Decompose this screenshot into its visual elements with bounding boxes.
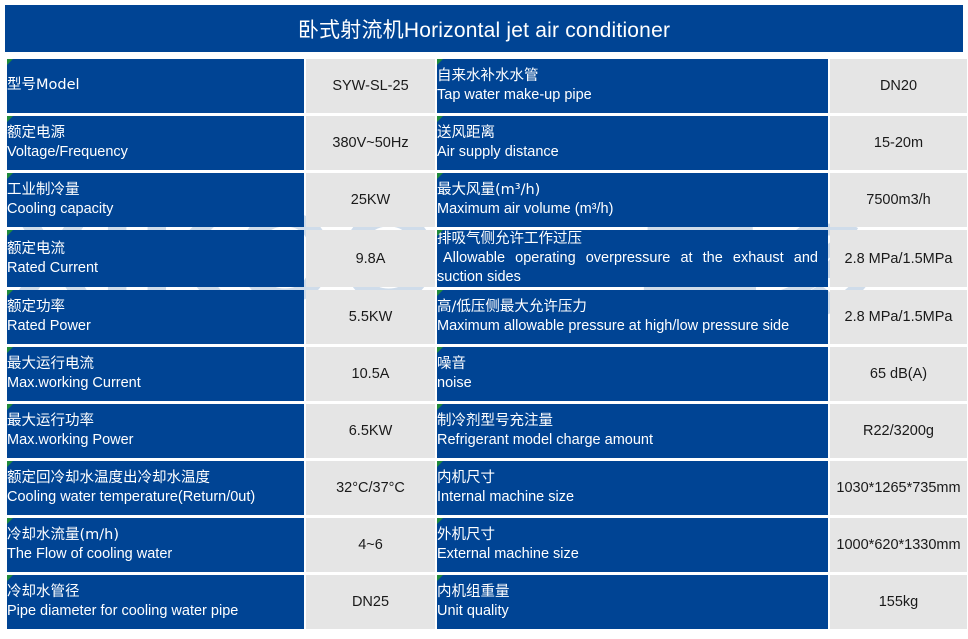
table-row: 额定回冷却水温度出冷却水温度 Cooling water temperature… [7, 461, 967, 515]
spec-label-cn: 最大运行功率 [7, 412, 304, 431]
spec-label-voltage-frequency: 额定电源 Voltage/Frequency [7, 116, 304, 170]
spec-table-body: 型号Model SYW-SL-25 自来水补水水管 Tap water make… [7, 59, 967, 629]
table-row: 型号Model SYW-SL-25 自来水补水水管 Tap water make… [7, 59, 967, 113]
spec-label-en: Voltage/Frequency [7, 143, 304, 162]
spec-label-en: Max.working Current [7, 374, 304, 393]
spec-value-noise: 65 dB(A) [830, 347, 967, 401]
spec-label-en: External machine size [437, 545, 828, 564]
spec-value-unit-quality: 155kg [830, 575, 967, 629]
spec-value-cooling-water-flow: 4~6 [306, 518, 435, 572]
spec-value-max-working-current: 10.5A [306, 347, 435, 401]
spec-label-max-working-power: 最大运行功率 Max.working Power [7, 404, 304, 458]
spec-label-cn: 额定电源 [7, 124, 304, 143]
spec-label-cn: 型号Model [7, 76, 304, 95]
spec-label-en: Air supply distance [437, 143, 828, 162]
spec-value-external-machine-size: 1000*620*1330mm [830, 518, 967, 572]
spec-value-refrigerant-charge: R22/3200g [830, 404, 967, 458]
spec-value-max-working-power: 6.5KW [306, 404, 435, 458]
spec-value-internal-machine-size: 1030*1265*735mm [830, 461, 967, 515]
spec-label-cooling-water-pipe-diameter: 冷却水管径 Pipe diameter for cooling water pi… [7, 575, 304, 629]
table-row: 最大运行电流 Max.working Current 10.5A 噪音 nois… [7, 347, 967, 401]
spec-label-internal-machine-size: 内机尺寸 Internal machine size [437, 461, 828, 515]
specification-table: 型号Model SYW-SL-25 自来水补水水管 Tap water make… [5, 56, 968, 632]
spec-label-en: Pipe diameter for cooling water pipe [7, 602, 304, 621]
spec-label-cooling-water-flow: 冷却水流量(m/h) The Flow of cooling water [7, 518, 304, 572]
spec-label-cn: 噪音 [437, 355, 828, 374]
spec-value-cooling-water-temperature: 32°C/37°C [306, 461, 435, 515]
spec-label-en: Maximum allowable pressure at high/low p… [437, 317, 828, 336]
spec-value-cooling-capacity: 25KW [306, 173, 435, 227]
spec-label-unit-quality: 内机组重量 Unit quality [437, 575, 828, 629]
spec-label-en: Max.working Power [7, 431, 304, 450]
spec-label-cooling-capacity: 工业制冷量 Cooling capacity [7, 173, 304, 227]
spec-label-cn: 制冷剂型号充注量 [437, 412, 828, 431]
spec-label-cn: 内机尺寸 [437, 469, 828, 488]
table-row: 额定功率 Rated Power 5.5KW 高/低压侧最大允许压力 Maxim… [7, 290, 967, 344]
spec-label-cn: 冷却水管径 [7, 583, 304, 602]
spec-label-cn: 内机组重量 [437, 583, 828, 602]
spec-label-model: 型号Model [7, 59, 304, 113]
page-title-text: 卧式射流机Horizontal jet air conditioner [298, 14, 670, 44]
spec-label-en: Rated Power [7, 317, 304, 336]
spec-value-max-air-volume: 7500m3/h [830, 173, 967, 227]
spec-value-rated-current: 9.8A [306, 230, 435, 287]
spec-label-noise: 噪音 noise [437, 347, 828, 401]
spec-label-rated-current: 额定电流 Rated Current [7, 230, 304, 287]
spec-label-en: Unit quality [437, 602, 828, 621]
spec-label-refrigerant-charge: 制冷剂型号充注量 Refrigerant model charge amount [437, 404, 828, 458]
spec-value-tap-water-pipe: DN20 [830, 59, 967, 113]
spec-label-en: Allowable operating overpressure at the … [437, 249, 828, 287]
spec-label-cooling-water-temperature: 额定回冷却水温度出冷却水温度 Cooling water temperature… [7, 461, 304, 515]
spec-label-en: Tap water make-up pipe [437, 86, 828, 105]
spec-label-en: Internal machine size [437, 488, 828, 507]
table-row: 冷却水管径 Pipe diameter for cooling water pi… [7, 575, 967, 629]
spec-label-allowable-overpressure: 排吸气侧允许工作过压 Allowable operating overpress… [437, 230, 828, 287]
spec-label-en: Cooling capacity [7, 200, 304, 219]
table-row: 额定电源 Voltage/Frequency 380V~50Hz 送风距离 Ai… [7, 116, 967, 170]
spec-label-cn: 高/低压侧最大允许压力 [437, 298, 828, 317]
table-row: 额定电流 Rated Current 9.8A 排吸气侧允许工作过压 Allow… [7, 230, 967, 287]
spec-label-air-supply-distance: 送风距离 Air supply distance [437, 116, 828, 170]
spec-label-cn: 送风距离 [437, 124, 828, 143]
spec-label-cn: 额定回冷却水温度出冷却水温度 [7, 469, 304, 488]
spec-label-cn: 自来水补水水管 [437, 67, 828, 86]
spec-value-cooling-water-pipe-diameter: DN25 [306, 575, 435, 629]
spec-label-tap-water-pipe: 自来水补水水管 Tap water make-up pipe [437, 59, 828, 113]
spec-label-cn: 额定功率 [7, 298, 304, 317]
spec-label-en: Cooling water temperature(Return/0ut) [7, 488, 304, 507]
spec-value-model: SYW-SL-25 [306, 59, 435, 113]
spec-label-cn: 工业制冷量 [7, 181, 304, 200]
spec-label-max-allowable-pressure: 高/低压侧最大允许压力 Maximum allowable pressure a… [437, 290, 828, 344]
spec-label-external-machine-size: 外机尺寸 External machine size [437, 518, 828, 572]
spec-label-max-air-volume: 最大风量(m³/h) Maximum air volume (m³/h) [437, 173, 828, 227]
table-row: 工业制冷量 Cooling capacity 25KW 最大风量(m³/h) M… [7, 173, 967, 227]
spec-label-en: Refrigerant model charge amount [437, 431, 828, 450]
spec-label-cn: 额定电流 [7, 240, 304, 259]
spec-label-en: noise [437, 374, 828, 393]
spec-label-cn: 排吸气侧允许工作过压 [437, 230, 828, 249]
spec-value-voltage-frequency: 380V~50Hz [306, 116, 435, 170]
spec-label-en: Maximum air volume (m³/h) [437, 200, 828, 219]
spec-label-cn: 冷却水流量(m/h) [7, 526, 304, 545]
spec-value-rated-power: 5.5KW [306, 290, 435, 344]
spec-label-cn: 外机尺寸 [437, 526, 828, 545]
spec-value-air-supply-distance: 15-20m [830, 116, 967, 170]
table-row: 冷却水流量(m/h) The Flow of cooling water 4~6… [7, 518, 967, 572]
page-title: 卧式射流机Horizontal jet air conditioner [5, 5, 963, 52]
spec-label-en: The Flow of cooling water [7, 545, 304, 564]
spec-sheet-page: XIKOO 喜多 卧式射流机Horizontal jet air conditi… [0, 0, 968, 639]
spec-label-rated-power: 额定功率 Rated Power [7, 290, 304, 344]
spec-label-max-working-current: 最大运行电流 Max.working Current [7, 347, 304, 401]
spec-value-allowable-overpressure: 2.8 MPa/1.5MPa [830, 230, 967, 287]
spec-label-cn: 最大运行电流 [7, 355, 304, 374]
spec-label-en: Rated Current [7, 259, 304, 278]
table-row: 最大运行功率 Max.working Power 6.5KW 制冷剂型号充注量 … [7, 404, 967, 458]
spec-label-cn: 最大风量(m³/h) [437, 181, 828, 200]
spec-value-max-allowable-pressure: 2.8 MPa/1.5MPa [830, 290, 967, 344]
